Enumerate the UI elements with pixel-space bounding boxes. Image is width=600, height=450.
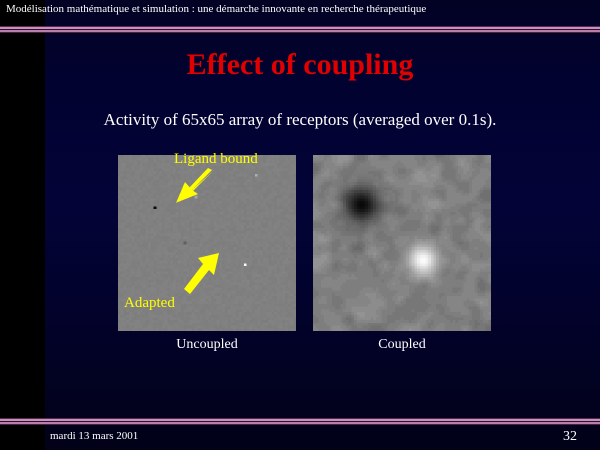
slide-header: Modélisation mathématique et simulation … bbox=[6, 3, 426, 15]
annotation-adapted: Adapted bbox=[124, 295, 175, 312]
footer-date: mardi 13 mars 2001 bbox=[50, 430, 138, 442]
slide: Modélisation mathématique et simulation … bbox=[0, 0, 600, 450]
page-title: Effect of coupling bbox=[0, 48, 600, 82]
caption-uncoupled: Uncoupled bbox=[118, 337, 296, 353]
top-divider-rule bbox=[0, 26, 600, 33]
annotation-ligand-bound: Ligand bound bbox=[174, 151, 258, 168]
heatmap-coupled bbox=[313, 155, 491, 331]
bottom-divider-rule bbox=[0, 418, 600, 425]
footer-page-number: 32 bbox=[563, 429, 577, 445]
page-subtitle: Activity of 65x65 array of receptors (av… bbox=[0, 110, 600, 130]
caption-coupled: Coupled bbox=[313, 337, 491, 353]
heatmap-coupled-canvas bbox=[313, 155, 491, 331]
